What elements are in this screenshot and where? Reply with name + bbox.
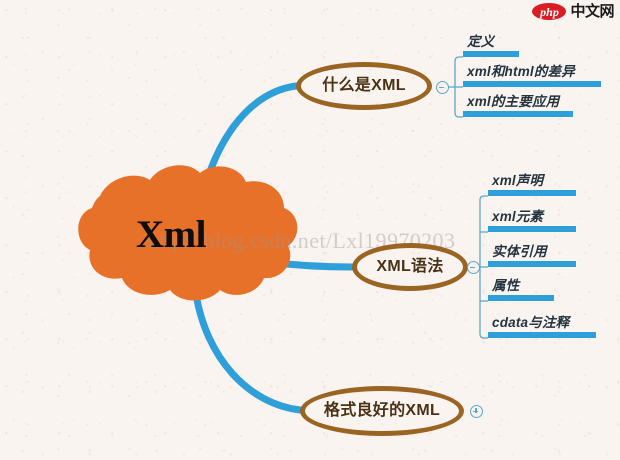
sub-item-bar [488, 295, 554, 301]
sub-item[interactable]: 实体引用 [488, 240, 608, 267]
sub-item-label: 定义 [467, 30, 494, 50]
sub-item[interactable]: cdata与注释 [488, 311, 613, 338]
sub-item[interactable]: 定义 [463, 30, 613, 57]
sub-item-label: xml和html的差异 [467, 60, 575, 80]
root-node-label[interactable]: Xml [96, 212, 246, 257]
sub-item-bar [488, 226, 576, 232]
sub-item-label: cdata与注释 [492, 311, 569, 331]
sub-item-bar [488, 261, 576, 267]
php-badge-icon: php [532, 3, 566, 20]
site-name-label: 中文网 [570, 4, 614, 19]
sub-item-label: 实体引用 [492, 240, 547, 260]
branch-node-well-formed-xml[interactable]: 格式良好的XML [300, 386, 464, 436]
sub-item[interactable]: xml的主要应用 [463, 90, 618, 117]
sub-item-bar [463, 111, 573, 117]
sub-item[interactable]: xml元素 [488, 205, 608, 232]
sub-item-bar [488, 332, 596, 338]
sub-item[interactable]: xml声明 [488, 169, 608, 196]
mindmap-canvas: Xml http://blog.csdn.net/Lxl19970203 什么是… [0, 0, 620, 460]
sub-item[interactable]: 属性 [488, 274, 608, 301]
branch-node-what-is-xml[interactable]: 什么是XML [296, 62, 432, 110]
connector-curve-branch-3 [195, 288, 300, 410]
sub-item-label: xml声明 [492, 169, 543, 189]
circle-minus-icon-branch-1[interactable] [436, 81, 449, 94]
circle-minus-icon-branch-2[interactable] [467, 261, 480, 274]
circle-plus-icon-branch-3[interactable] [470, 405, 483, 418]
sub-item-bar [488, 190, 576, 196]
php-site-logo[interactable]: php 中文网 [532, 3, 614, 20]
sub-item-label: xml元素 [492, 205, 543, 225]
sub-item-bar [463, 81, 601, 87]
branch-node-xml-syntax[interactable]: XML语法 [352, 243, 468, 291]
sub-item-label: xml的主要应用 [467, 90, 559, 110]
sub-item[interactable]: xml和html的差异 [463, 60, 618, 87]
sub-item-label: 属性 [492, 274, 519, 294]
sub-item-bar [463, 51, 519, 57]
